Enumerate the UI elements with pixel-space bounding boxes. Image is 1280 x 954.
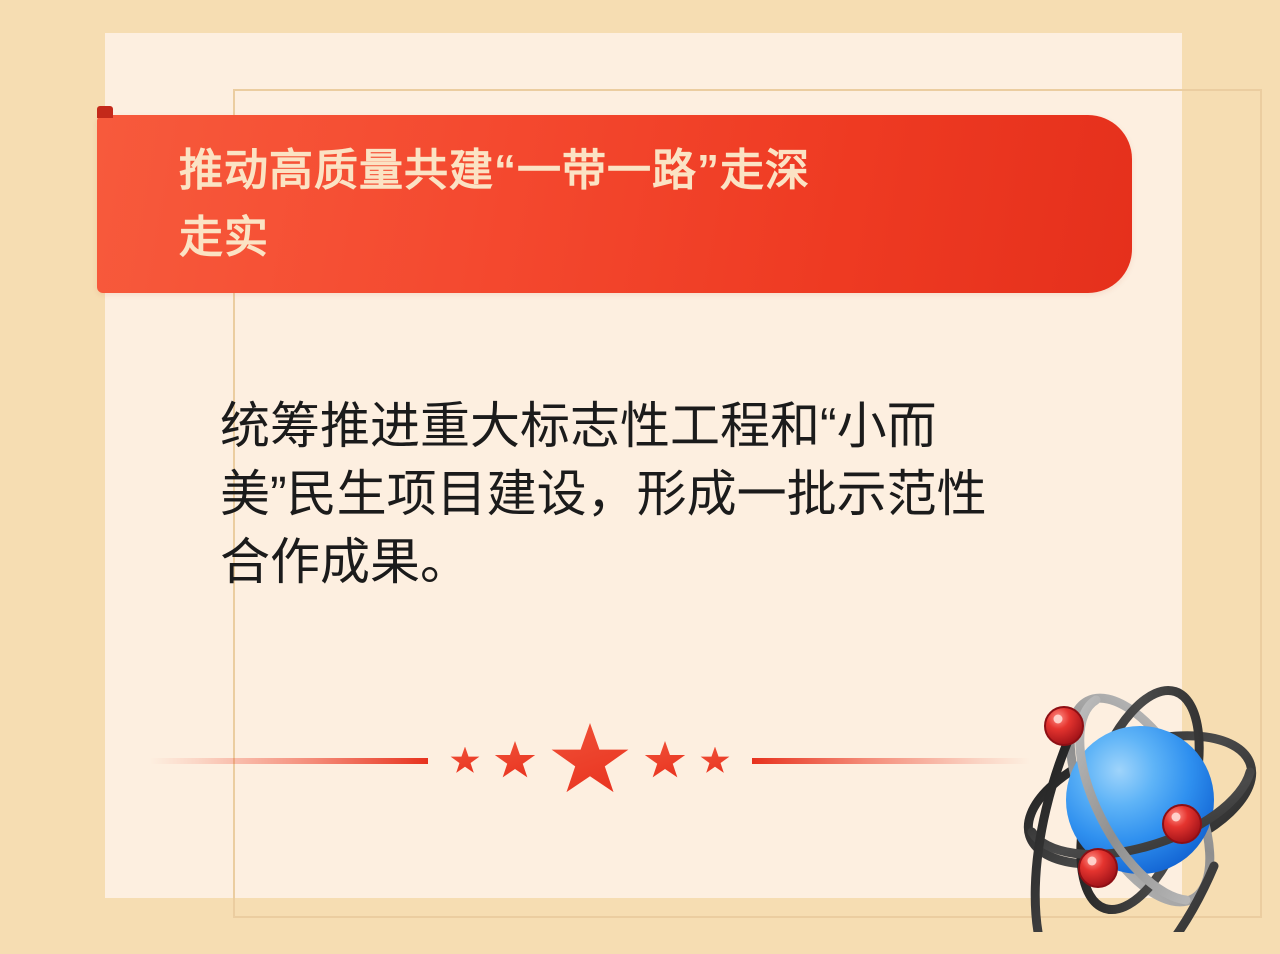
atom-electron xyxy=(1079,849,1117,887)
poster-canvas: 推动高质量共建“一带一路”走深 走实 统筹推进重大标志性工程和“小而 美”民生项… xyxy=(0,0,1280,954)
atom-electron xyxy=(1045,707,1083,745)
star-icon xyxy=(494,741,536,781)
atom-electron-highlight xyxy=(1172,813,1181,822)
divider-line-right xyxy=(752,758,1030,764)
divider-stars xyxy=(428,723,752,799)
star-divider xyxy=(150,722,1030,800)
atom-electron-highlight xyxy=(1088,857,1097,866)
title-banner: 推动高质量共建“一带一路”走深 走实 xyxy=(97,115,1132,293)
body-paragraph: 统筹推进重大标志性工程和“小而 美”民生项目建设，形成一批示范性 合作成果。 xyxy=(220,392,1080,596)
divider-line-left xyxy=(150,758,428,764)
atom-electron-highlight xyxy=(1054,715,1063,724)
star-icon xyxy=(450,747,480,776)
atom-electron xyxy=(1163,805,1201,843)
star-icon xyxy=(700,747,730,776)
star-icon xyxy=(644,741,686,781)
banner-fold-accent xyxy=(97,106,113,118)
atom-icon xyxy=(1008,668,1272,932)
star-icon xyxy=(550,723,630,799)
banner-title-text: 推动高质量共建“一带一路”走深 走实 xyxy=(179,137,1092,271)
